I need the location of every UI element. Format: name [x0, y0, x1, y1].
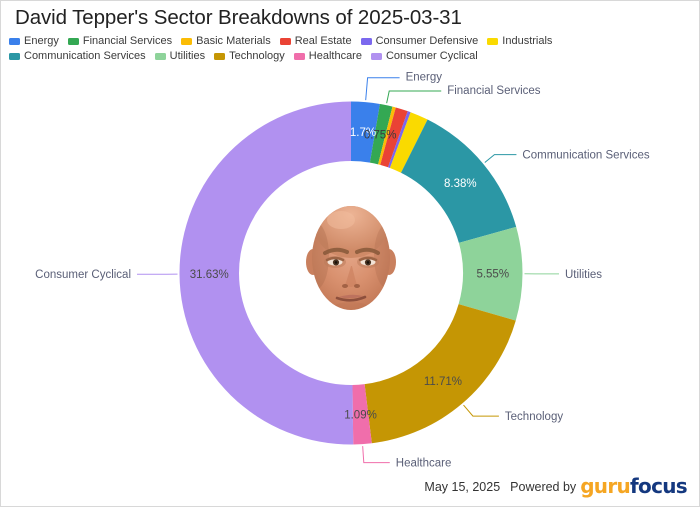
slice-value-financial-services: 0.75%: [364, 129, 397, 141]
legend-swatch-icon: [487, 38, 498, 45]
gurufocus-logo[interactable]: gurufocus: [580, 474, 687, 498]
gurufocus-logo-guru: guru: [580, 474, 630, 498]
slice-value-communication-services: 8.38%: [444, 178, 477, 190]
legend-item-real-estate[interactable]: Real Estate: [280, 34, 352, 49]
leader-line-energy: [366, 78, 400, 100]
slice-label-utilities: Utilities: [565, 269, 602, 281]
leader-line-financial-services: [387, 91, 442, 103]
legend-item-label: Consumer Cyclical: [386, 49, 478, 64]
legend-swatch-icon: [181, 38, 192, 45]
leader-line-healthcare: [363, 446, 390, 462]
legend-item-label: Technology: [229, 49, 285, 64]
slice-value-healthcare: 1.09%: [344, 409, 377, 421]
legend-swatch-icon: [371, 53, 382, 60]
legend-item-technology[interactable]: Technology: [214, 49, 285, 64]
donut-chart-svg: 1.7%0.75%8.38%5.55%11.71%1.09%31.63% Ene…: [1, 67, 700, 472]
footer-date: May 15, 2025: [424, 480, 500, 494]
slice-value-technology: 11.71%: [424, 376, 462, 388]
legend-item-healthcare[interactable]: Healthcare: [294, 49, 362, 64]
donut-slices: [180, 102, 523, 445]
slice-label-technology: Technology: [505, 411, 563, 423]
gurufocus-logo-focus: focus: [630, 474, 687, 498]
legend-item-financial-services[interactable]: Financial Services: [68, 34, 172, 49]
legend-swatch-icon: [68, 38, 79, 45]
slice-label-healthcare: Healthcare: [396, 458, 452, 470]
chart-page: David Tepper's Sector Breakdowns of 2025…: [0, 0, 700, 507]
donut-slice-technology[interactable]: [365, 304, 516, 443]
legend-item-label: Industrials: [502, 34, 552, 49]
legend-swatch-icon: [155, 53, 166, 60]
legend-item-basic-materials[interactable]: Basic Materials: [181, 34, 271, 49]
legend-swatch-icon: [361, 38, 372, 45]
donut-chart: 1.7%0.75%8.38%5.55%11.71%1.09%31.63% Ene…: [1, 67, 700, 472]
legend-item-label: Real Estate: [295, 34, 352, 49]
slice-label-communication-services: Communication Services: [522, 150, 649, 162]
legend-item-industrials[interactable]: Industrials: [487, 34, 552, 49]
legend-swatch-icon: [9, 53, 20, 60]
footer-powered-by: Powered by: [510, 480, 576, 494]
legend-swatch-icon: [9, 38, 20, 45]
slice-label-consumer-cyclical: Consumer Cyclical: [35, 269, 131, 281]
slice-value-consumer-cyclical: 31.63%: [190, 269, 229, 281]
legend-item-communication-services[interactable]: Communication Services: [9, 49, 146, 64]
legend-swatch-icon: [294, 53, 305, 60]
legend-item-label: Healthcare: [309, 49, 362, 64]
leader-line-technology: [464, 405, 499, 416]
chart-legend: EnergyFinancial ServicesBasic MaterialsR…: [9, 34, 695, 65]
slice-value-utilities: 5.55%: [476, 269, 509, 281]
legend-item-label: Energy: [24, 34, 59, 49]
legend-swatch-icon: [280, 38, 291, 45]
slice-label-financial-services: Financial Services: [447, 85, 541, 97]
legend-item-label: Basic Materials: [196, 34, 271, 49]
leader-line-communication-services: [485, 155, 517, 163]
legend-item-label: Utilities: [170, 49, 205, 64]
legend-item-utilities[interactable]: Utilities: [155, 49, 205, 64]
legend-item-label: Communication Services: [24, 49, 146, 64]
legend-item-label: Consumer Defensive: [376, 34, 479, 49]
page-title: David Tepper's Sector Breakdowns of 2025…: [15, 6, 462, 30]
legend-swatch-icon: [214, 53, 225, 60]
legend-item-energy[interactable]: Energy: [9, 34, 59, 49]
legend-item-consumer-cyclical[interactable]: Consumer Cyclical: [371, 49, 478, 64]
legend-item-consumer-defensive[interactable]: Consumer Defensive: [361, 34, 479, 49]
legend-item-label: Financial Services: [83, 34, 172, 49]
slice-label-energy: Energy: [406, 72, 443, 84]
footer: May 15, 2025 Powered by gurufocus: [424, 472, 687, 496]
